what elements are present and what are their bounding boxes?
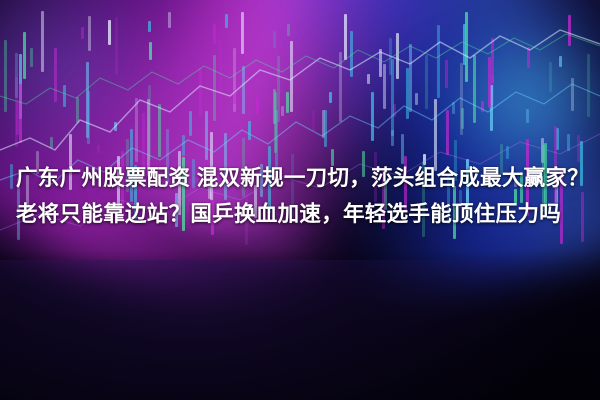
banner-image: 广东广州股票配资 混双新规一刀切，莎头组合成最大赢家？老将只能靠边站？国乒换血加… xyxy=(0,0,600,400)
headline-text: 广东广州股票配资 混双新规一刀切，莎头组合成最大赢家？老将只能靠边站？国乒换血加… xyxy=(16,160,600,232)
bottom-glow xyxy=(0,260,600,400)
